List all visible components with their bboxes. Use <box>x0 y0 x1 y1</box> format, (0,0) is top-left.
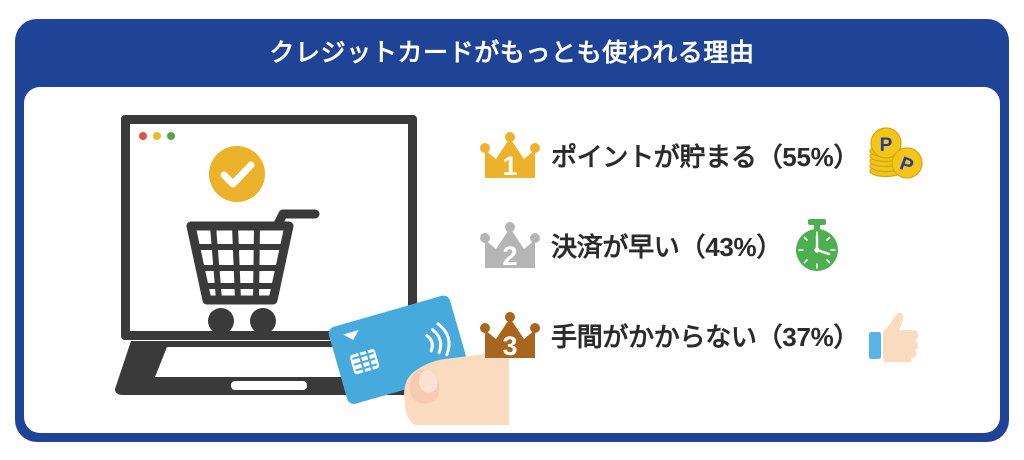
svg-text:P: P <box>880 135 893 156</box>
crown-rank-number-3: 3 <box>502 331 517 361</box>
close-dot-icon <box>139 132 147 140</box>
content-panel: 1 ポイントが貯まる（55%） P <box>24 87 1000 433</box>
ranking-row-2: 2 決済が早い（43%） <box>479 211 999 279</box>
ranking-list: 1 ポイントが貯まる（55%） P <box>479 121 999 369</box>
ranking-label-3: 手間がかからない（37%） <box>551 317 859 354</box>
minimize-dot-icon <box>153 132 161 140</box>
check-circle-icon <box>209 146 265 202</box>
infographic-root: クレジットカードがもっとも使われる理由 <box>0 0 1024 460</box>
crown-bronze-icon: 3 <box>479 308 541 362</box>
crown-gold-icon: 1 <box>479 128 541 182</box>
thumbs-up-icon <box>865 306 923 364</box>
maximize-dot-icon <box>167 132 175 140</box>
browser-traffic-light-dots <box>139 132 175 140</box>
page-title: クレジットカードがもっとも使われる理由 <box>24 19 1000 87</box>
laptop-illustration <box>109 115 429 397</box>
ranking-row-1: 1 ポイントが貯まる（55%） P <box>479 121 999 189</box>
stopwatch-icon <box>788 216 846 274</box>
point-coins-icon: P P <box>865 126 923 184</box>
outer-blue-panel: クレジットカードがもっとも使われる理由 <box>15 19 1009 442</box>
shopping-cart-icon <box>177 204 337 336</box>
ranking-row-3: 3 手間がかからない（37%） <box>479 301 999 369</box>
crown-rank-number-2: 2 <box>502 241 517 271</box>
crown-rank-number-1: 1 <box>502 151 517 181</box>
ranking-label-1: ポイントが貯まる（55%） <box>551 137 859 174</box>
ranking-label-2: 決済が早い（43%） <box>551 227 782 264</box>
crown-silver-icon: 2 <box>479 218 541 272</box>
